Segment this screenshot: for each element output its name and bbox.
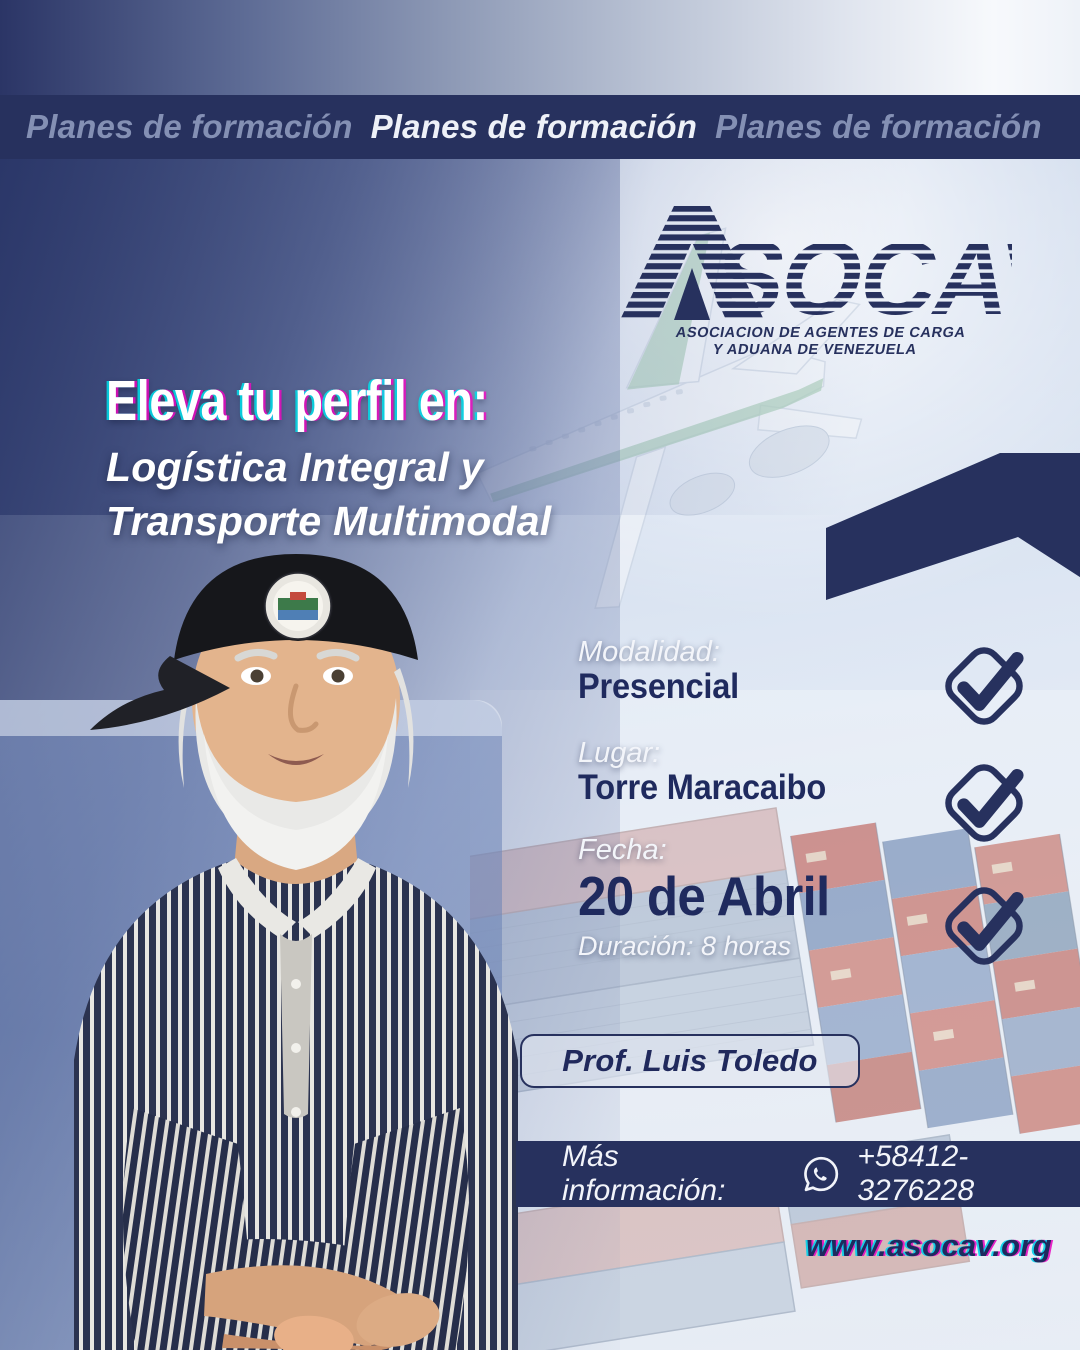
modalidad-value: Presencial <box>578 668 894 707</box>
fecha-label: Fecha: <box>578 834 918 866</box>
headline-sub-line2: Transporte Multimodal <box>106 494 666 548</box>
headline-sub-line1: Logística Integral y <box>106 440 666 494</box>
contact-label: Más información: <box>562 1140 785 1208</box>
contact-phone[interactable]: +58412-3276228 <box>857 1140 1080 1208</box>
top-gradient-strip <box>0 0 1080 95</box>
website-url[interactable]: www.asocav.org <box>806 1228 1052 1264</box>
headline-block: Eleva tu perfil en: Logística Integral y… <box>106 374 666 548</box>
duracion-text: Duración: 8 horas <box>578 931 918 962</box>
banner-text-2: Planes de formación <box>371 108 698 146</box>
lugar-label: Lugar: <box>578 737 918 769</box>
presenter-photo <box>46 548 546 1350</box>
contact-bar: Más información: +58412-3276228 <box>516 1141 1080 1207</box>
check-badge-icon <box>938 757 1030 849</box>
modalidad-label: Modalidad: <box>578 636 918 668</box>
whatsapp-icon[interactable] <box>801 1154 841 1194</box>
fecha-value: 20 de Abril <box>578 866 894 927</box>
logo-tagline-line2: Y ADUANA DE VENEZUELA <box>711 342 918 358</box>
asocav-logo: SOCAV ASOCIACION DE AGENTES DE CARGA Y A… <box>612 196 1012 358</box>
course-details-block: Modalidad: Presencial Lugar: Torre Marac… <box>578 636 918 962</box>
banner-planes-de-formacion: Planes de formación Planes de formación … <box>0 95 1080 159</box>
check-badge-icon <box>938 640 1030 732</box>
promotional-flyer: Planes de formación Planes de formación … <box>0 0 1080 1350</box>
headline-main: Eleva tu perfil en: <box>106 374 565 428</box>
check-badge-icon <box>938 880 1030 972</box>
banner-text-3: Planes de formación <box>715 108 1042 146</box>
svg-text:SOCAV: SOCAV <box>705 221 1012 337</box>
banner-text-1: Planes de formación <box>26 108 353 146</box>
presenter-name: Prof. Luis Toledo <box>562 1043 817 1079</box>
logo-tagline-line1: ASOCIACION DE AGENTES DE CARGA <box>674 325 967 341</box>
check-icon-group <box>938 640 1030 977</box>
lugar-value: Torre Maracaibo <box>578 769 894 808</box>
presenter-name-box: Prof. Luis Toledo <box>520 1034 860 1088</box>
